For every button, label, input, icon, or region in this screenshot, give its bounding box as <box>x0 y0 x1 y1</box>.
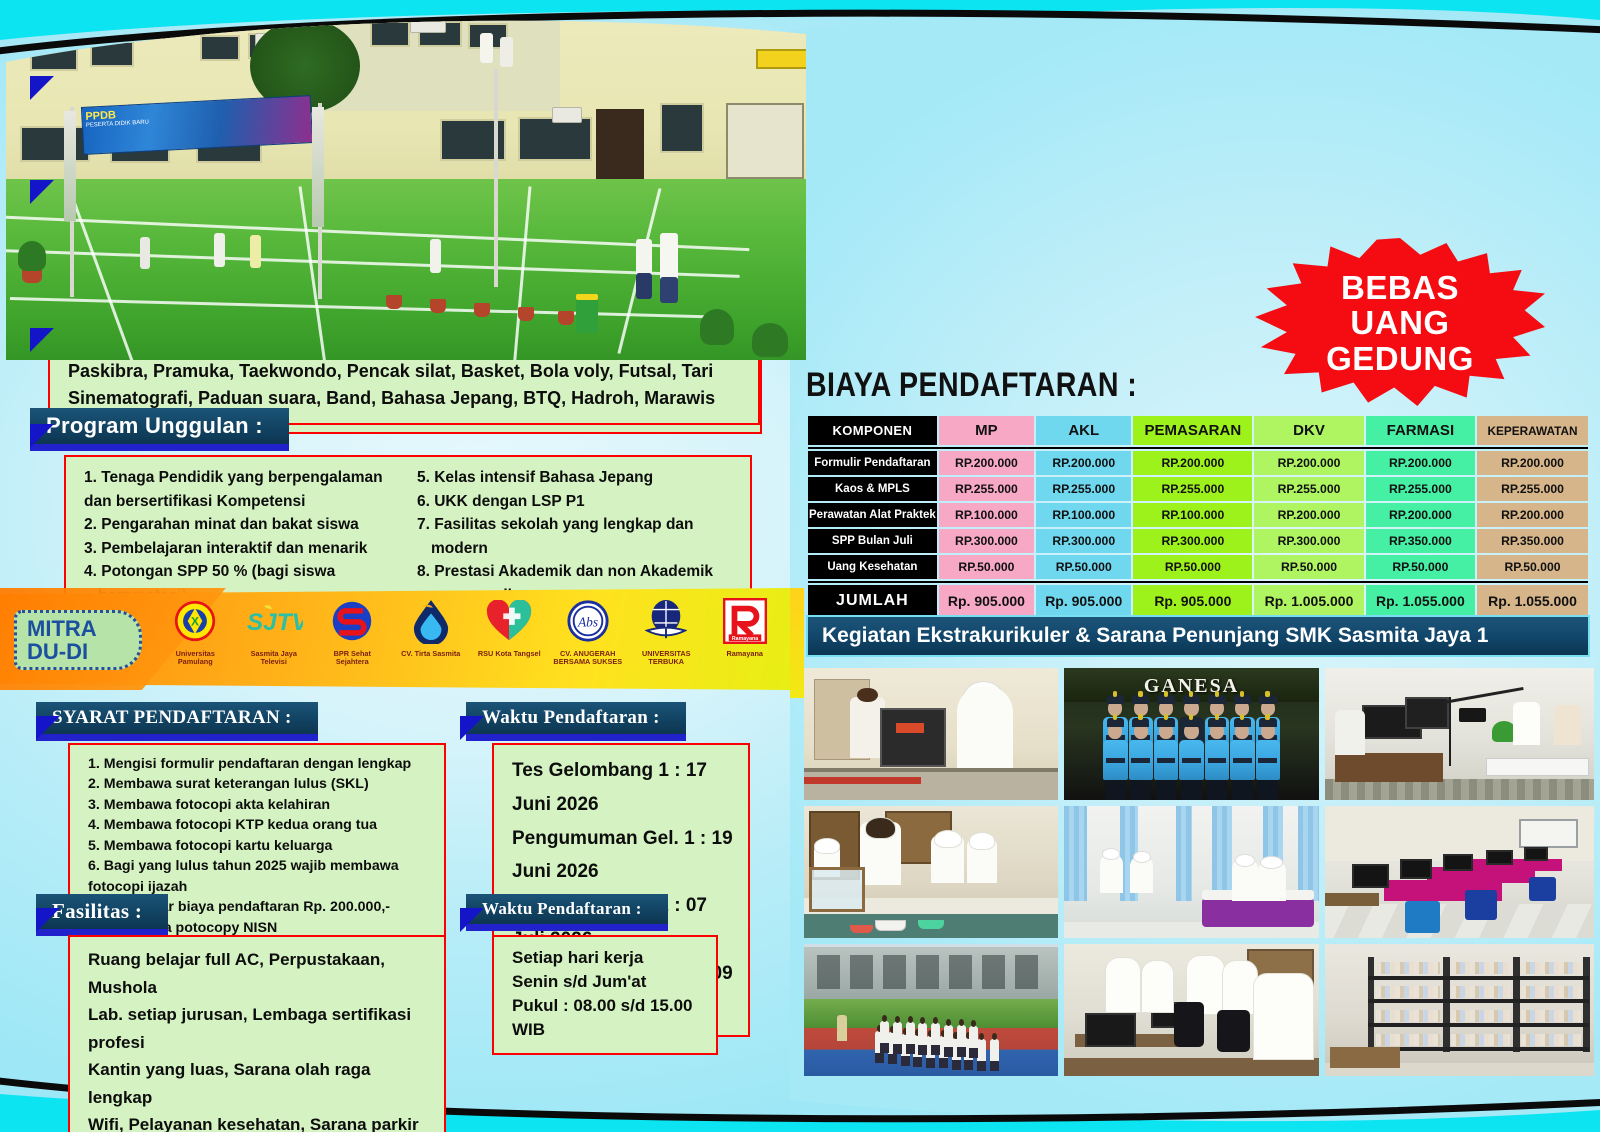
photo-upacara-lapangan <box>804 944 1058 1076</box>
photo-kelas-komputer <box>1064 944 1318 1076</box>
partner-cv-tirta-sasmita: CV. Tirta Sasmita <box>396 594 467 658</box>
col-header-keperawatan: KEPERAWATAN <box>1477 416 1588 445</box>
cell-akl: RP.100.000 <box>1036 503 1131 527</box>
partner-name: CV. ANUGERAH BERSAMA SUKSES <box>553 650 624 665</box>
mitra-label-line-2: DU-DI <box>27 640 139 663</box>
cell-mp: RP.50.000 <box>939 555 1034 579</box>
ut-book-icon <box>631 594 702 648</box>
table-row: Uang Kesehatan RP.50.000 RP.50.000 RP.50… <box>808 555 1588 579</box>
cell-mp: RP.200.000 <box>939 451 1034 475</box>
cell-akl: RP.200.000 <box>1036 451 1131 475</box>
syarat-item: 1. Mengisi formulir pendaftaran dengan l… <box>88 754 430 774</box>
fasilitas-item: Ruang belajar full AC, Perpustakaan, Mus… <box>88 946 430 1001</box>
program-item: dan bersertifikasi Kompetensi <box>84 490 403 514</box>
badge-line-1: BEBAS <box>1341 270 1459 306</box>
cell-keperawatan: RP.255.000 <box>1477 477 1588 501</box>
photo-lab-praktek <box>804 668 1058 800</box>
fasilitas-list: Ruang belajar full AC, Perpustakaan, Mus… <box>68 935 446 1132</box>
waktu-jam-list: Setiap hari kerja Senin s/d Jum'at Pukul… <box>492 935 718 1055</box>
photo-lab-komputer <box>1325 806 1594 938</box>
cell-dkv: RP.255.000 <box>1254 477 1363 501</box>
ekstrakurikuler-line-1: Paskibra, Pramuka, Taekwondo, Pencak sil… <box>68 358 744 385</box>
biaya-pendaftaran-title: BIAYA PENDAFTARAN : <box>806 366 1137 405</box>
row-label: Kaos & MPLS <box>808 477 937 501</box>
partner-ramayana: Ramayana Ramayana <box>710 594 781 658</box>
col-header-dkv: DKV <box>1254 416 1363 445</box>
partner-cv-anugerah-bersama-sukses: Abs CV. ANUGERAH BERSAMA SUKSES <box>553 594 624 665</box>
col-header-farmasi: FARMASI <box>1366 416 1475 445</box>
cell-akl: RP.50.000 <box>1036 555 1131 579</box>
yellow-accent-strip <box>790 588 804 698</box>
svg-text:X: X <box>191 615 199 629</box>
hero-courtyard <box>0 179 810 360</box>
photo-studio-broadcast <box>1325 668 1594 800</box>
program-item: 3. Pembelajaran interaktif dan menarik <box>84 537 403 561</box>
cell-mp: RP.255.000 <box>939 477 1034 501</box>
waktu-tes-header: Waktu Pendaftaran : <box>466 702 686 735</box>
unpam-logo-icon: X <box>160 594 231 648</box>
col-header-akl: AKL <box>1036 416 1131 445</box>
syarat-item: 4. Membawa fotocopi KTP kedua orang tua <box>88 815 430 835</box>
total-akl: Rp. 905.000 <box>1036 585 1131 617</box>
mitra-dudi-label: MITRA DU-DI <box>14 610 142 670</box>
abs-circle-icon: Abs <box>553 594 624 648</box>
col-header-pemasaran: PEMASARAN <box>1133 416 1252 445</box>
brochure-page: VISI : SMK Sasmita jaya 1 mampu menghasi… <box>0 0 1600 1132</box>
mitra-dudi-band: MITRA DU-DI X Universitas Pamulang <box>0 588 790 690</box>
total-pemasaran: Rp. 905.000 <box>1133 585 1252 617</box>
cell-farmasi: RP.255.000 <box>1366 477 1475 501</box>
cell-farmasi: RP.350.000 <box>1366 529 1475 553</box>
photo-lab-keperawatan <box>1064 806 1318 938</box>
program-item: 1. Tenaga Pendidik yang berpengalaman <box>84 466 403 490</box>
row-label: Perawatan Alat Praktek <box>808 503 937 527</box>
cell-dkv: RP.200.000 <box>1254 503 1363 527</box>
fasilitas-item: Wifi, Pelayanan kesehatan, Sarana parkir… <box>88 1111 430 1132</box>
bpr-logo-icon <box>317 594 388 648</box>
bebas-uang-gedung-badge: BEBAS UANG GEDUNG <box>1255 238 1545 406</box>
cell-mp: RP.100.000 <box>939 503 1034 527</box>
biaya-pendaftaran-table: KOMPONEN MP AKL PEMASARAN DKV FARMASI KE… <box>806 414 1590 619</box>
table-row: Kaos & MPLS RP.255.000 RP.255.000 RP.255… <box>808 477 1588 501</box>
program-column-right: 5. Kelas intensif Bahasa Jepang 6. UKK d… <box>417 466 736 607</box>
partner-logo-list: X Universitas Pamulang SJTV Sasmita Jaya… <box>160 594 780 686</box>
waktu-tes-item: Tes Gelombang 1 : 17 Juni 2026 <box>512 754 734 822</box>
syarat-item: 6. Bagi yang lulus tahun 2025 wajib memb… <box>88 856 430 876</box>
partner-name: Universitas Pamulang <box>160 650 231 665</box>
total-keperawatan: Rp. 1.055.000 <box>1477 585 1588 617</box>
partner-name: Sasmita Jaya Televisi <box>239 650 310 665</box>
cell-farmasi: RP.200.000 <box>1366 451 1475 475</box>
syarat-item: 3. Membawa fotocopi akta kelahiran <box>88 795 430 815</box>
total-farmasi: Rp. 1.055.000 <box>1366 585 1475 617</box>
partner-rsu-kota-tangsel: RSU Kota Tangsel <box>474 594 545 658</box>
partner-name: CV. Tirta Sasmita <box>396 650 467 658</box>
tirta-waterdrop-icon <box>396 594 467 648</box>
cell-pemasaran: RP.200.000 <box>1133 451 1252 475</box>
svg-text:Ramayana: Ramayana <box>732 636 758 642</box>
partner-name: UNIVERSITAS TERBUKA <box>631 650 702 665</box>
cell-pemasaran: RP.300.000 <box>1133 529 1252 553</box>
col-header-komponen: KOMPONEN <box>808 416 937 445</box>
program-item: 5. Kelas intensif Bahasa Jepang <box>417 466 736 490</box>
syarat-item: 2. Membawa surat keterangan lulus (SKL) <box>88 774 430 794</box>
fasilitas-item: Kantin yang luas, Sarana olah raga lengk… <box>88 1056 430 1111</box>
cell-akl: RP.300.000 <box>1036 529 1131 553</box>
program-column-left: 1. Tenaga Pendidik yang berpengalaman da… <box>84 466 403 607</box>
row-label: SPP Bulan Juli <box>808 529 937 553</box>
program-unggulan-header: Program Unggulan : <box>30 408 289 445</box>
photo-lab-farmasi <box>804 806 1058 938</box>
gallery-photo-grid: GANESA <box>804 668 1594 1076</box>
total-dkv: Rp. 1.005.000 <box>1254 585 1363 617</box>
waktu-tes-item: Pengumuman Gel. 1 : 19 Juni 2026 <box>512 822 734 890</box>
syarat-item: 5. Membawa fotocopi kartu keluarga <box>88 836 430 856</box>
program-item: 2. Pengarahan minat dan bakat siswa <box>84 513 403 537</box>
svg-text:Abs: Abs <box>577 615 598 630</box>
badge-line-3: GEDUNG <box>1326 341 1474 377</box>
fasilitas-box: Ruang belajar full AC, Perpustakaan, Mus… <box>54 928 454 1132</box>
badge-line-2: UANG <box>1350 305 1449 341</box>
partner-name: Ramayana <box>710 650 781 658</box>
price-table: KOMPONEN MP AKL PEMASARAN DKV FARMASI KE… <box>806 414 1590 619</box>
mitra-label-line-1: MITRA <box>27 617 139 640</box>
cell-mp: RP.300.000 <box>939 529 1034 553</box>
svg-text:SJTV: SJTV <box>247 609 303 636</box>
row-label: Formulir Pendaftaran <box>808 451 937 475</box>
cell-pemasaran: RP.255.000 <box>1133 477 1252 501</box>
cell-farmasi: RP.50.000 <box>1366 555 1475 579</box>
cell-keperawatan: RP.350.000 <box>1477 529 1588 553</box>
ramayana-logo-icon: Ramayana <box>710 594 781 648</box>
gallery-caption-bar: Kegiatan Ekstrakurikuler & Sarana Penunj… <box>806 615 1590 657</box>
waktu-jam-item: Setiap hari kerja <box>512 946 702 970</box>
table-total-row: JUMLAH Rp. 905.000 Rp. 905.000 Rp. 905.0… <box>808 585 1588 617</box>
photo-perpustakaan <box>1325 944 1594 1076</box>
cell-pemasaran: RP.100.000 <box>1133 503 1252 527</box>
partner-name: BPR Sehat Sejahtera <box>317 650 388 665</box>
cell-dkv: RP.200.000 <box>1254 451 1363 475</box>
syarat-header: SYARAT PENDAFTARAN : <box>36 702 318 735</box>
partner-universitas-pamulang: X Universitas Pamulang <box>160 594 231 665</box>
waktu-jam-item: Pukul : 08.00 s/d 15.00 WIB <box>512 994 702 1042</box>
cell-dkv: RP.300.000 <box>1254 529 1363 553</box>
badge-text: BEBAS UANG GEDUNG <box>1255 238 1545 406</box>
cell-dkv: RP.50.000 <box>1254 555 1363 579</box>
cell-pemasaran: RP.50.000 <box>1133 555 1252 579</box>
col-header-mp: MP <box>939 416 1034 445</box>
total-label: JUMLAH <box>808 585 937 617</box>
photo-halaman-sekolah: PPDB PESERTA DIDIK BARU <box>0 8 810 360</box>
photo-paskibra-ganesa: GANESA <box>1064 668 1318 800</box>
cell-keperawatan: RP.50.000 <box>1477 555 1588 579</box>
cell-akl: RP.255.000 <box>1036 477 1131 501</box>
partner-sjtv: SJTV Sasmita Jaya Televisi <box>239 594 310 665</box>
partner-universitas-terbuka: UNIVERSITAS TERBUKA <box>631 594 702 665</box>
program-item: 7. Fasilitas sekolah yang lengkap dan mo… <box>417 513 736 560</box>
cell-farmasi: RP.200.000 <box>1366 503 1475 527</box>
row-label: Uang Kesehatan <box>808 555 937 579</box>
cell-keperawatan: RP.200.000 <box>1477 503 1588 527</box>
program-item: 6. UKK dengan LSP P1 <box>417 490 736 514</box>
table-row: SPP Bulan Juli RP.300.000 RP.300.000 RP.… <box>808 529 1588 553</box>
waktu-jam-header: Waktu Pendaftaran : <box>466 894 668 925</box>
waktu-jam-box: Setiap hari kerja Senin s/d Jum'at Pukul… <box>478 928 726 1065</box>
waktu-jam-item: Senin s/d Jum'at <box>512 970 702 994</box>
table-header-row: KOMPONEN MP AKL PEMASARAN DKV FARMASI KE… <box>808 416 1588 445</box>
fasilitas-item: Lab. setiap jurusan, Lembaga sertifikasi… <box>88 1001 430 1056</box>
partner-name: RSU Kota Tangsel <box>474 650 545 658</box>
total-mp: Rp. 905.000 <box>939 585 1034 617</box>
sjtv-logo-icon: SJTV <box>239 594 310 648</box>
partner-bpr-sehat-sejahtera: BPR Sehat Sejahtera <box>317 594 388 665</box>
cell-keperawatan: RP.200.000 <box>1477 451 1588 475</box>
table-row: Formulir Pendaftaran RP.200.000 RP.200.0… <box>808 451 1588 475</box>
table-row: Perawatan Alat Praktek RP.100.000 RP.100… <box>808 503 1588 527</box>
rsu-heart-icon <box>474 594 545 648</box>
